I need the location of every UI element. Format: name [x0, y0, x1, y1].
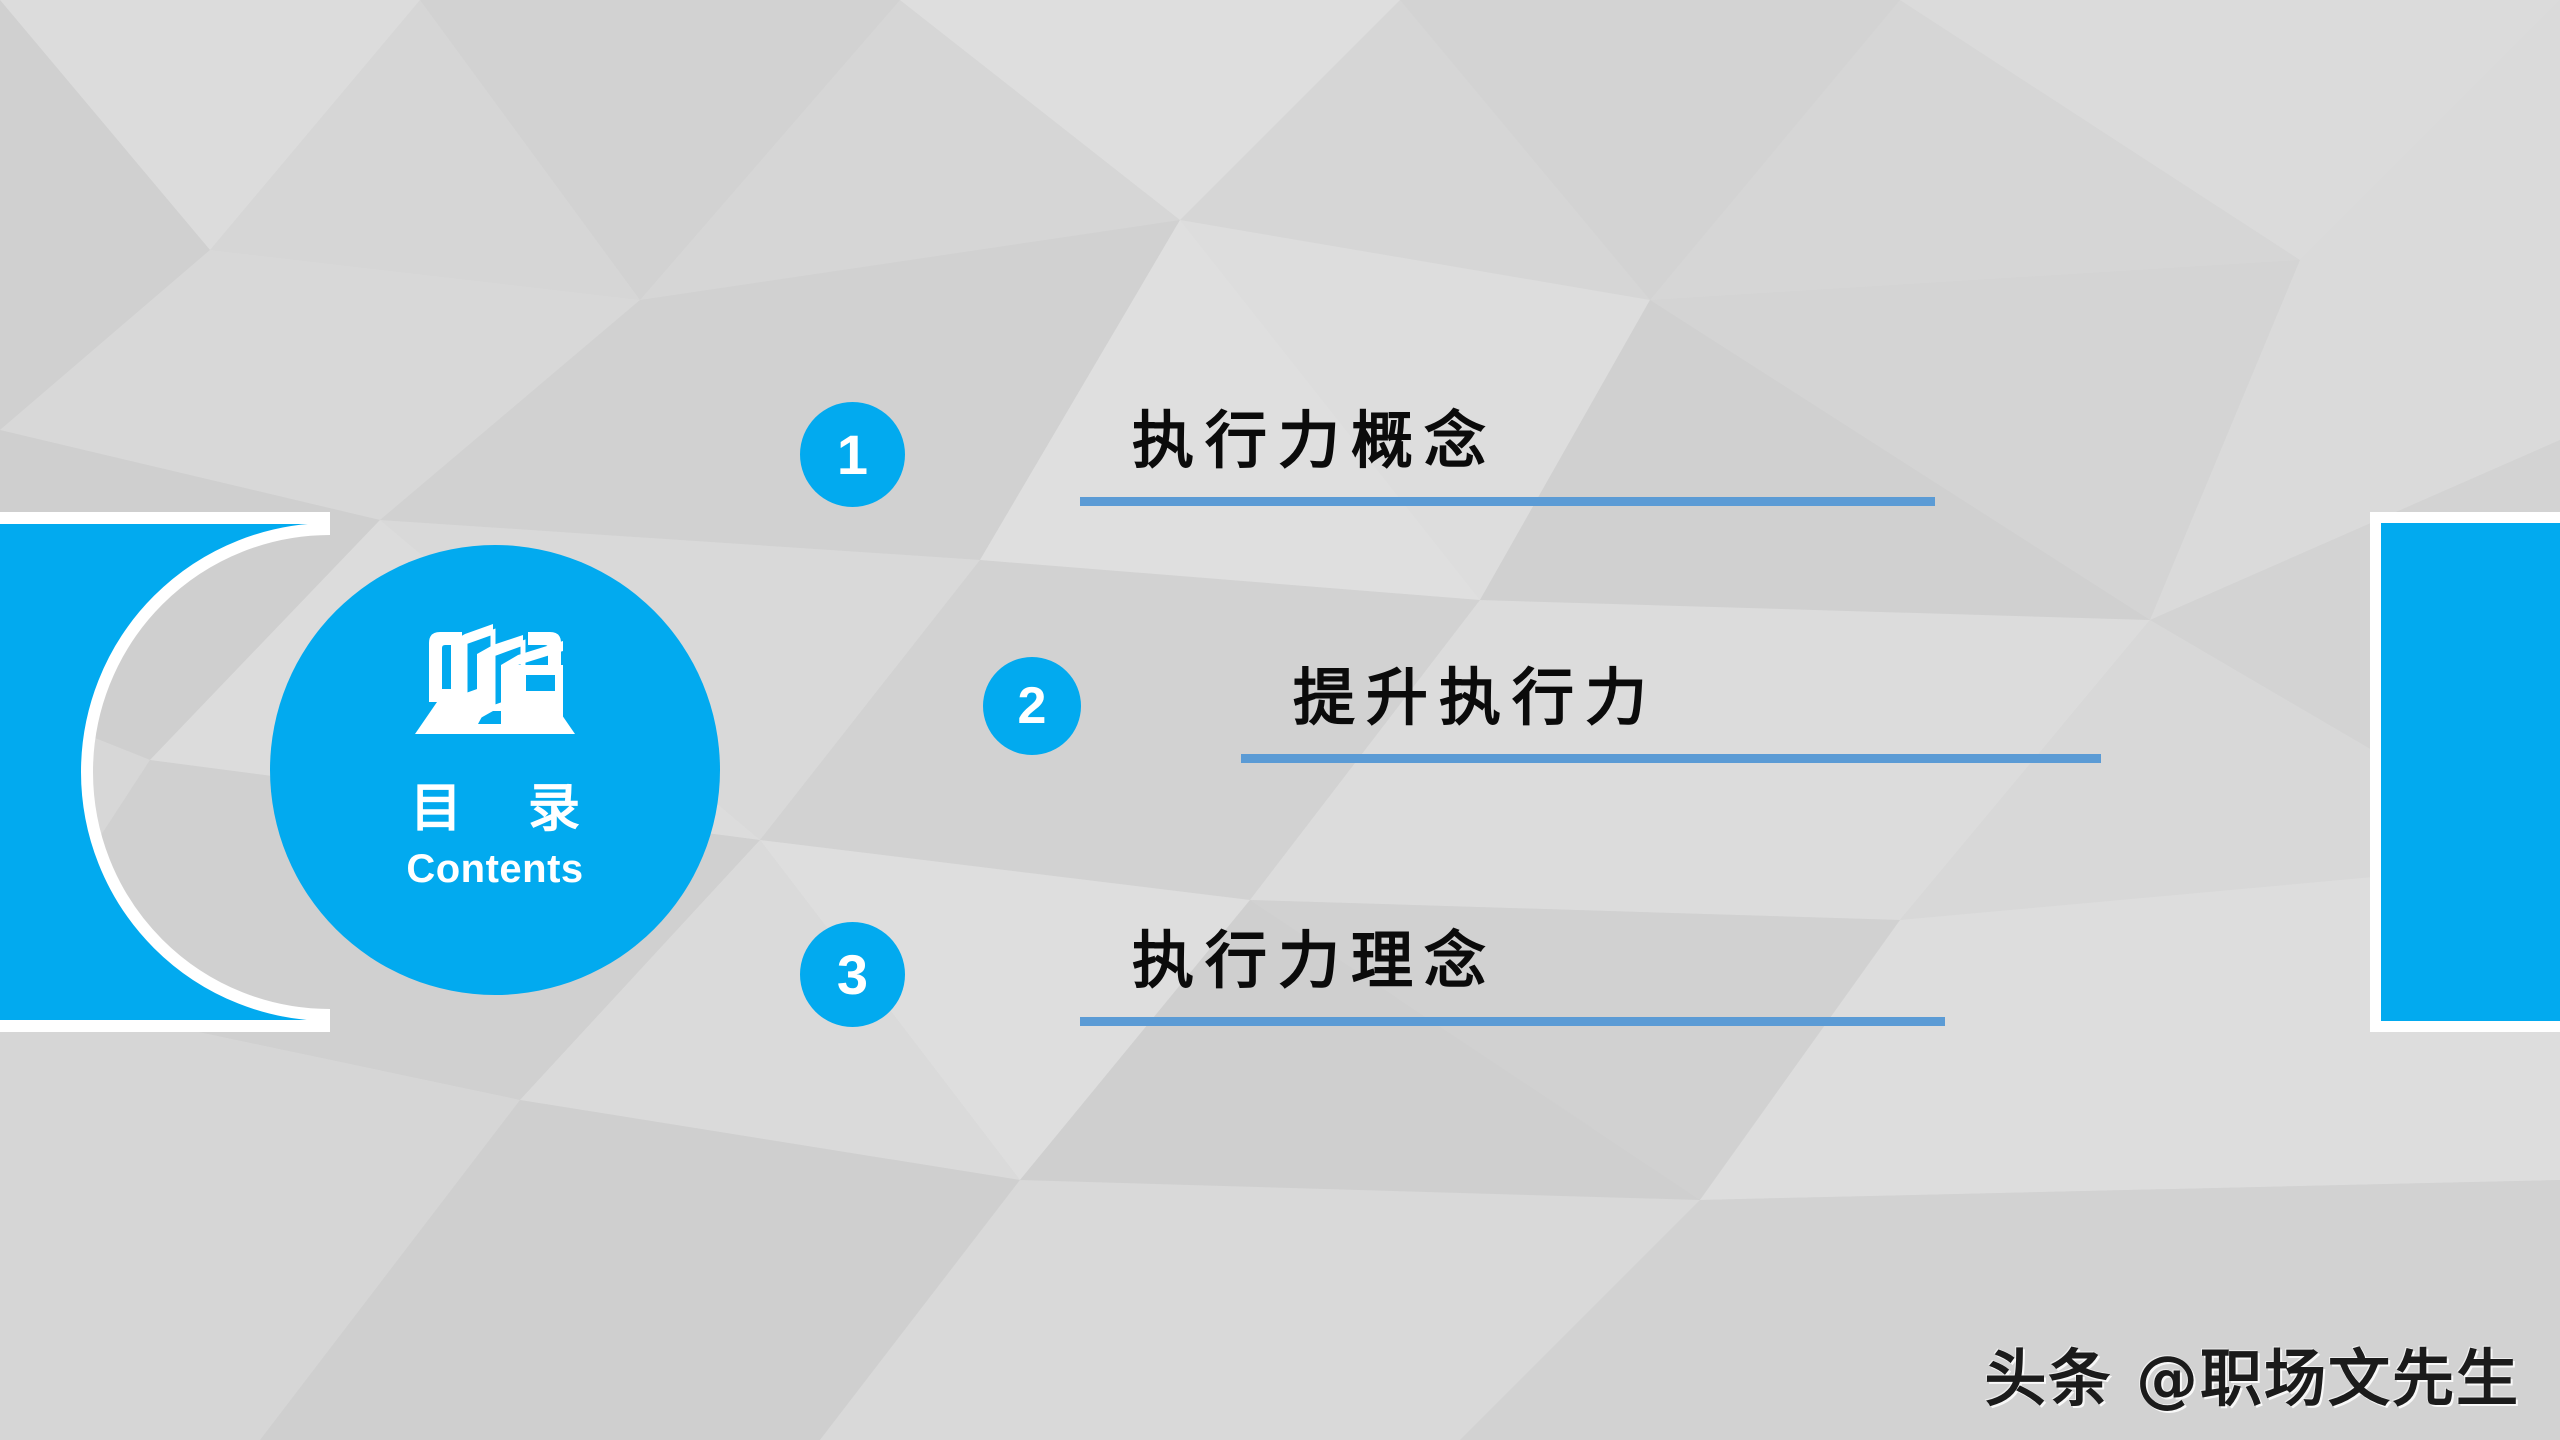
toc-text-wrap-1: 执行力概念	[1080, 408, 1935, 506]
toc-rule-2	[1241, 754, 2101, 763]
toc-badge-2: 2	[983, 657, 1081, 755]
toc-item-1[interactable]: 1 执行力概念	[800, 402, 1935, 507]
slide-canvas: 目 录 Contents 1 执行力概念 2 提升执行力 3 执行力理念 头条 …	[0, 0, 2560, 1440]
contents-title-cn: 目 录	[386, 783, 604, 835]
toc-badge-1: 1	[800, 402, 905, 507]
toc-item-3[interactable]: 3 执行力理念	[800, 922, 1945, 1027]
toc-label-1: 执行力概念	[1080, 408, 1935, 475]
laptop-books-icon	[407, 607, 583, 757]
right-decoration-fill	[2381, 523, 2560, 1021]
toc-rule-1	[1080, 497, 1935, 506]
toc-text-wrap-2: 提升执行力	[1241, 665, 2101, 763]
right-decoration-bar	[2370, 512, 2560, 1032]
contents-title-en: Contents	[406, 849, 583, 889]
toc-item-2[interactable]: 2 提升执行力	[983, 657, 2101, 763]
contents-circle: 目 录 Contents	[270, 545, 720, 995]
toc-badge-3: 3	[800, 922, 905, 1027]
toc-label-2: 提升执行力	[1241, 665, 2101, 732]
toc-rule-3	[1080, 1017, 1945, 1026]
toc-text-wrap-3: 执行力理念	[1080, 928, 1945, 1026]
watermark-text: 头条 @职场文先生	[1984, 1328, 2520, 1418]
toc-label-3: 执行力理念	[1080, 928, 1945, 995]
